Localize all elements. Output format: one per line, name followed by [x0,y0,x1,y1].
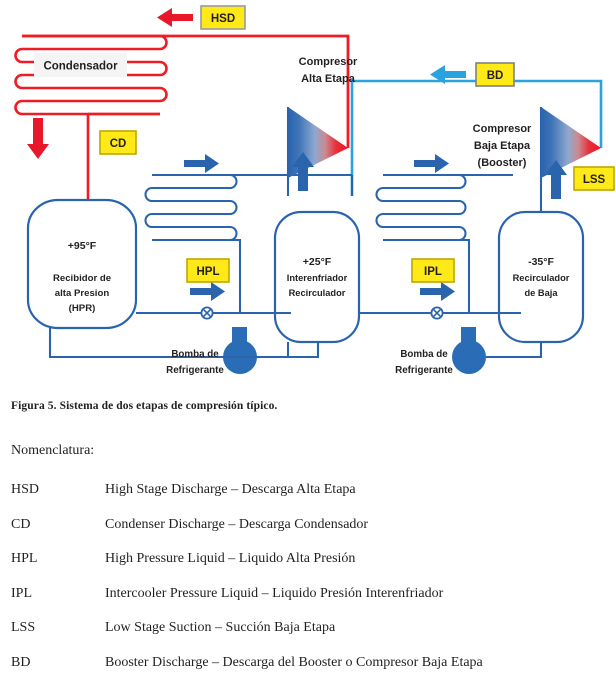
vessel-intercooler-temperature: +25°F [303,256,332,268]
vessel-hpr-line-2: alta Presion [55,288,110,299]
nomenclature-abbr: BD [11,655,105,671]
vessel-low-line-2: de Baja [524,288,558,298]
nomenclature-definition: Low Stage Suction – Succión Baja Etapa [105,620,611,636]
badge-cd-label: CD [110,138,127,150]
nomenclature-row: LSS Low Stage Suction – Succión Baja Eta… [11,620,611,655]
flow-arrow-hpl-icon [190,282,225,301]
vessel-low-line-1: Recirculador [513,273,570,283]
compressor-low-stage [541,107,601,212]
flow-arrow-hsd-icon [157,8,193,27]
nomenclature-definition: High Pressure Liquid – Liquido Alta Pres… [105,551,611,567]
compressor-low-stage-label-1: Compresor [473,123,532,135]
badge-ipl[interactable]: IPL [412,259,454,282]
condenser-label: Condensador [43,61,118,73]
nomenclature-abbr: IPL [11,586,105,602]
badge-bd-label: BD [487,70,504,82]
badge-lss-label: LSS [583,174,606,186]
compressor-high-stage-label-2: Alta Etapa [301,73,356,85]
nomenclature-definition: Intercooler Pressure Liquid – Liquido Pr… [105,586,611,602]
badge-hpl-label: HPL [197,266,220,278]
vessel-hpr-temperature: +95°F [68,240,97,252]
pump-right-label-1: Bomba de [400,349,448,360]
badge-bd[interactable]: BD [476,63,514,86]
badge-lss[interactable]: LSS [574,167,614,190]
nomenclature-list: HSD High Stage Discharge – Descarga Alta… [11,482,611,689]
nomenclature-abbr: CD [11,517,105,533]
badge-hpl[interactable]: HPL [187,259,229,282]
nomenclature-definition: Condenser Discharge – Descarga Condensad… [105,517,611,533]
nomenclature-definition: Booster Discharge – Descarga del Booster… [105,655,611,671]
badge-hsd[interactable]: HSD [201,6,245,29]
nomenclature-abbr: HPL [11,551,105,567]
nomenclature-row: HSD High Stage Discharge – Descarga Alta… [11,482,611,517]
nomenclature-row: IPL Intercooler Pressure Liquid – Liquid… [11,586,611,621]
nomenclature-heading: Nomenclatura: [11,443,94,459]
compressor-high-stage [288,107,348,196]
figure-page: Condensador +95°F Recibidor de alta Pres… [0,0,616,685]
nomenclature-abbr: LSS [11,620,105,636]
badge-ipl-label: IPL [424,266,442,278]
vessel-hpr-line-1: Recibidor de [53,273,111,284]
figure-caption: Figura 5. Sistema de dos etapas de compr… [11,400,277,412]
nomenclature-abbr: HSD [11,482,105,498]
flow-arrow-ipl-icon [420,282,455,301]
refrigeration-system-diagram: Condensador +95°F Recibidor de alta Pres… [0,0,616,395]
pump-left-label-1: Bomba de [171,349,219,360]
expansion-valve-right[interactable] [431,307,442,318]
vessel-low-temperature: -35°F [528,256,554,268]
flow-arrow-evap-right-icon [414,154,449,173]
badge-cd[interactable]: CD [100,131,136,154]
compressor-low-stage-label-2: Baja Etapa [474,140,531,152]
pump-right-label-2: Refrigerante [395,365,453,376]
vessel-hpr-line-3: (HPR) [69,303,96,314]
nomenclature-row: CD Condenser Discharge – Descarga Conden… [11,517,611,552]
flow-arrow-cd-icon [27,118,49,159]
flow-arrow-evap-left-icon [184,154,219,173]
compressor-low-stage-label-3: (Booster) [478,157,527,169]
vessel-intercooler-line-1: Interenfriador [287,273,348,283]
pump-left-label-2: Refrigerante [166,365,224,376]
compressor-high-stage-label-1: Compresor [299,56,358,68]
expansion-valve-left[interactable] [201,307,212,318]
nomenclature-row: HPL High Pressure Liquid – Liquido Alta … [11,551,611,586]
badge-hsd-label: HSD [211,13,235,25]
nomenclature-definition: High Stage Discharge – Descarga Alta Eta… [105,482,611,498]
vessel-intercooler-line-2: Recirculador [289,288,346,298]
nomenclature-row: BD Booster Discharge – Descarga del Boos… [11,655,611,689]
